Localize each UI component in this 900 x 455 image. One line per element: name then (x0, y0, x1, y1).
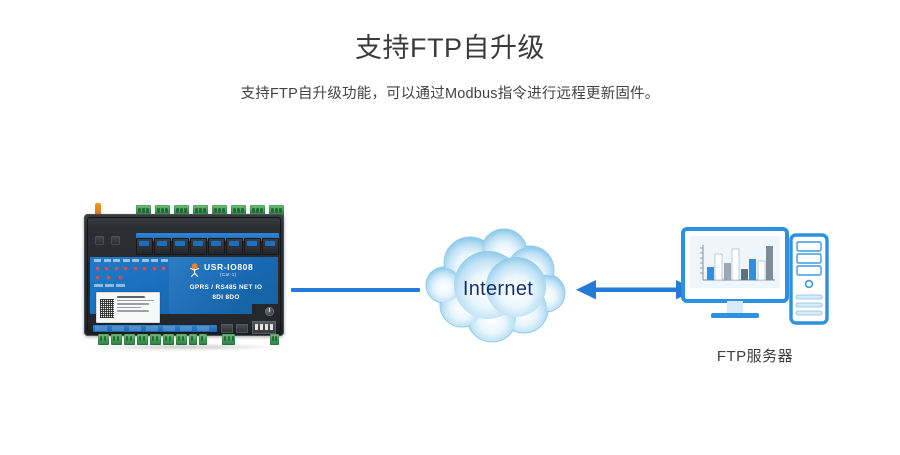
qr-code-icon (100, 299, 114, 318)
device-led-labels (94, 259, 168, 265)
feature-diagram-page: 支持FTP自升级 支持FTP自升级功能，可以通过Modbus指令进行远程更新固件… (0, 0, 900, 455)
device-chassis: USR-IO808 (Cat-1) GPRS / RS485 NET IO 8D… (84, 214, 284, 336)
device-spec-line-1: GPRS / RS485 NET IO (178, 284, 274, 291)
page-subtitle: 支持FTP自升级功能，可以通过Modbus指令进行远程更新固件。 (0, 82, 900, 103)
ftp-server-illustration (681, 227, 829, 339)
monitor-icon (683, 229, 787, 318)
device-variant-label: (Cat-1) (220, 272, 236, 277)
cloud-label: Internet (418, 278, 578, 301)
ftp-server-label: FTP服务器 (681, 345, 829, 366)
device-product-sticker (96, 292, 160, 323)
device-led-labels-secondary (94, 284, 134, 289)
usr-logo-icon (188, 263, 201, 277)
device-led-row-secondary (94, 276, 130, 281)
device-button-left (95, 236, 104, 245)
link-device-to-internet (291, 288, 420, 292)
device-rotary-knob (265, 307, 274, 316)
double-arrow-icon (576, 279, 696, 301)
computer-tower-icon (791, 235, 827, 323)
device-button-right (111, 236, 120, 245)
internet-cloud: Internet (418, 225, 578, 353)
device-bottom-connector-strip (93, 325, 217, 332)
sticker-text-lines (117, 296, 157, 314)
link-internet-to-server-bidirectional (576, 279, 696, 301)
device-led-row-primary (94, 267, 168, 272)
device-shadow (90, 343, 278, 351)
device-illustration-usr-io808: USR-IO808 (Cat-1) GPRS / RS485 NET IO 8D… (84, 203, 284, 348)
device-top-connector-row (136, 238, 279, 253)
diagram-stage: USR-IO808 (Cat-1) GPRS / RS485 NET IO 8D… (0, 185, 900, 400)
device-switch-b (236, 324, 248, 333)
device-spec-line-2: 8DI 8DO (178, 294, 274, 301)
device-dip-switch (252, 321, 276, 334)
page-title: 支持FTP自升级 (0, 26, 900, 65)
device-switch-a (221, 324, 233, 333)
device-brand-label: USR-IO808 (204, 262, 253, 272)
